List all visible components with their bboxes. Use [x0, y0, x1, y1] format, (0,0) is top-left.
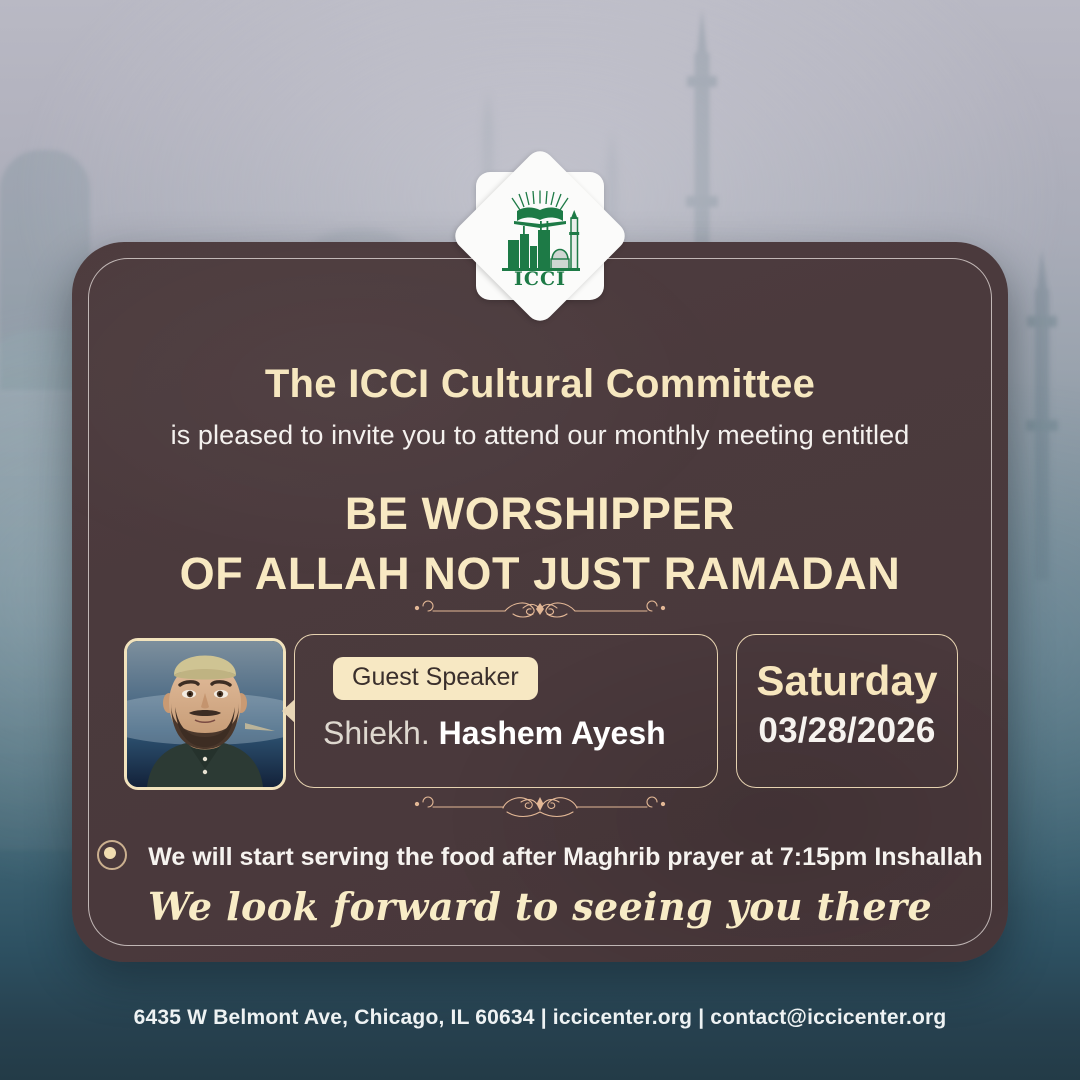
icci-logo: ICCI	[476, 172, 604, 300]
bullet-target-icon	[97, 840, 127, 870]
speaker-card-pointer	[282, 699, 295, 723]
logo-artwork: ICCI	[490, 188, 590, 286]
speaker-card: Guest Speaker Shiekh. Hashem Ayesh	[294, 634, 718, 788]
contact-footer: 6435 W Belmont Ave, Chicago, IL 60634 | …	[0, 1006, 1080, 1030]
closing-message: We look forward to seeing you there	[0, 884, 1080, 929]
speaker-portrait	[127, 641, 283, 787]
ornament-divider-icon	[395, 594, 685, 628]
page-title: The ICCI Cultural Committee	[0, 362, 1080, 407]
event-date: 03/28/2026	[737, 711, 957, 751]
speaker-name: Shiekh. Hashem Ayesh	[323, 715, 703, 752]
invitation-subheading: is pleased to invite you to attend our m…	[0, 420, 1080, 451]
food-note-text: We will start serving the food after Mag…	[148, 843, 982, 871]
svg-text:ICCI: ICCI	[514, 268, 566, 286]
event-date-card: Saturday 03/28/2026	[736, 634, 958, 788]
event-weekday: Saturday	[737, 657, 957, 705]
topic-line-1: BE WORSHIPPER	[0, 484, 1080, 544]
topic-title: BE WORSHIPPER OF ALLAH NOT JUST RAMADAN	[0, 484, 1080, 604]
ornament-divider-icon	[395, 790, 685, 824]
speaker-photo	[124, 638, 286, 790]
event-poster: ICCI The ICCI Cultural Committee is plea…	[0, 0, 1080, 1080]
speaker-title-prefix: Shiekh.	[323, 715, 430, 751]
food-note: We will start serving the food after Mag…	[0, 840, 1080, 872]
speaker-full-name: Hashem Ayesh	[439, 715, 666, 751]
guest-speaker-badge: Guest Speaker	[333, 657, 538, 700]
speaker-date-row: Guest Speaker Shiekh. Hashem Ayesh Satur…	[124, 634, 956, 786]
